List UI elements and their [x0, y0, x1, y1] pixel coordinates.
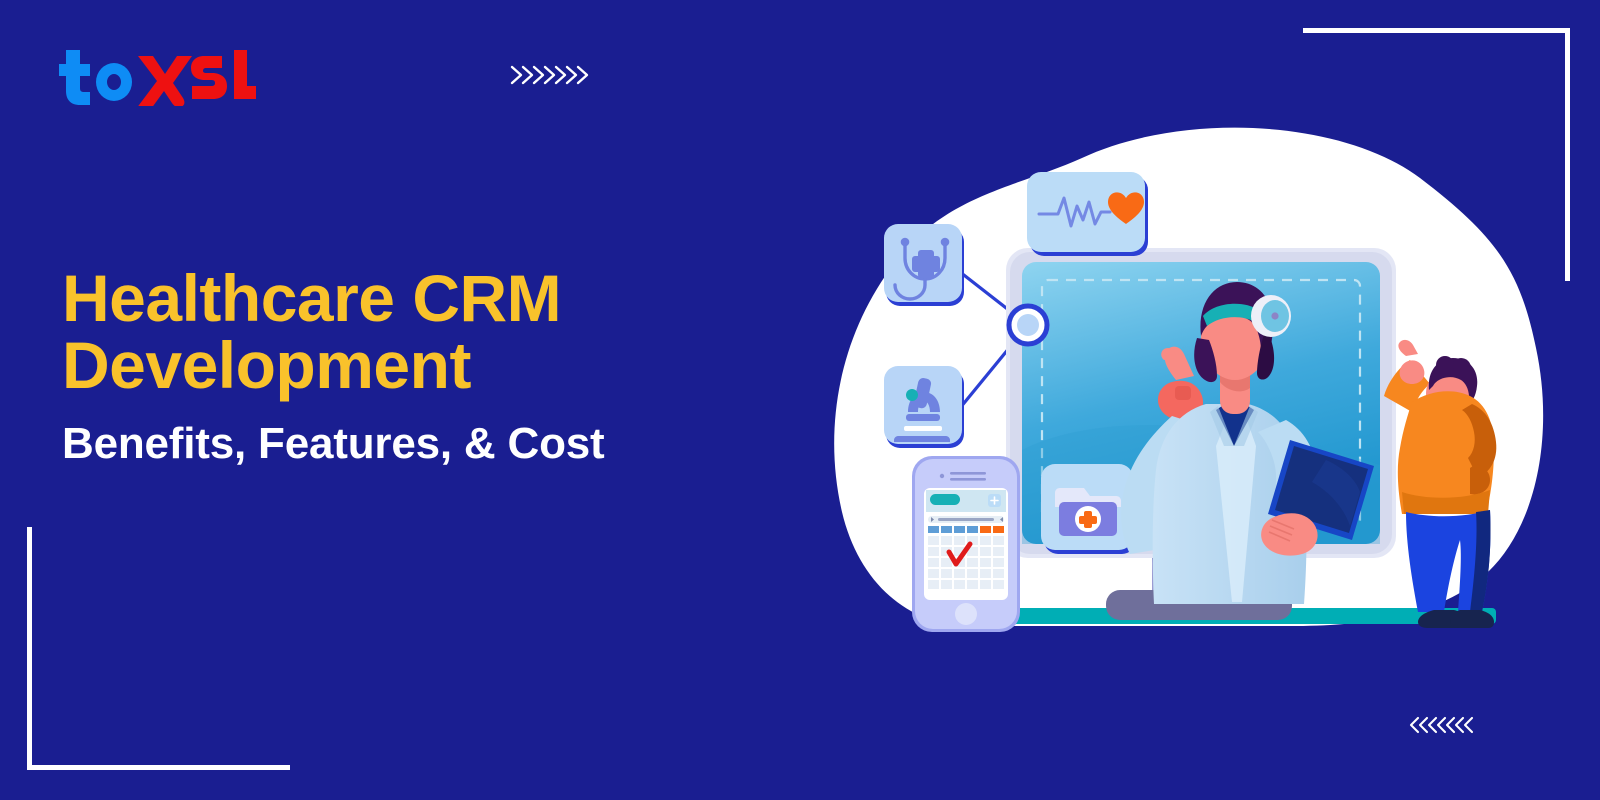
logo-letter-s — [191, 56, 227, 99]
chevron-left-group — [1408, 714, 1480, 736]
banner-root: Healthcare CRM Development Benefits, Fea… — [0, 0, 1600, 800]
hero-illustration — [820, 120, 1580, 680]
headline-block: Healthcare CRM Development Benefits, Fea… — [62, 266, 782, 469]
page-title-line-2: Development — [62, 333, 782, 398]
logo-letter-o-inner — [107, 74, 121, 90]
ecg-heart-card[interactable] — [1027, 172, 1148, 256]
chevron-right-group — [508, 62, 592, 88]
logo-svg — [56, 44, 256, 106]
logo-letter-l — [234, 50, 256, 99]
phone-action-button — [930, 494, 960, 505]
chevron-left-icon — [1408, 714, 1480, 736]
illustration-svg — [820, 120, 1580, 680]
logo-toxsl[interactable] — [56, 44, 256, 106]
head-mirror — [1251, 295, 1291, 337]
stethoscope-card[interactable] — [884, 224, 964, 306]
doctor-hand — [1261, 513, 1317, 555]
chevron-right-icon — [508, 62, 592, 88]
logo-letter-x — [136, 56, 192, 106]
microscope-card[interactable] — [884, 366, 964, 448]
network-hub-node[interactable] — [1009, 306, 1047, 344]
smartphone[interactable] — [912, 456, 1020, 632]
page-subtitle: Benefits, Features, & Cost — [62, 419, 782, 469]
page-title-line-1: Healthcare CRM — [62, 266, 782, 331]
logo-letter-t — [59, 50, 90, 105]
corner-bracket-bottom-left — [27, 527, 290, 770]
